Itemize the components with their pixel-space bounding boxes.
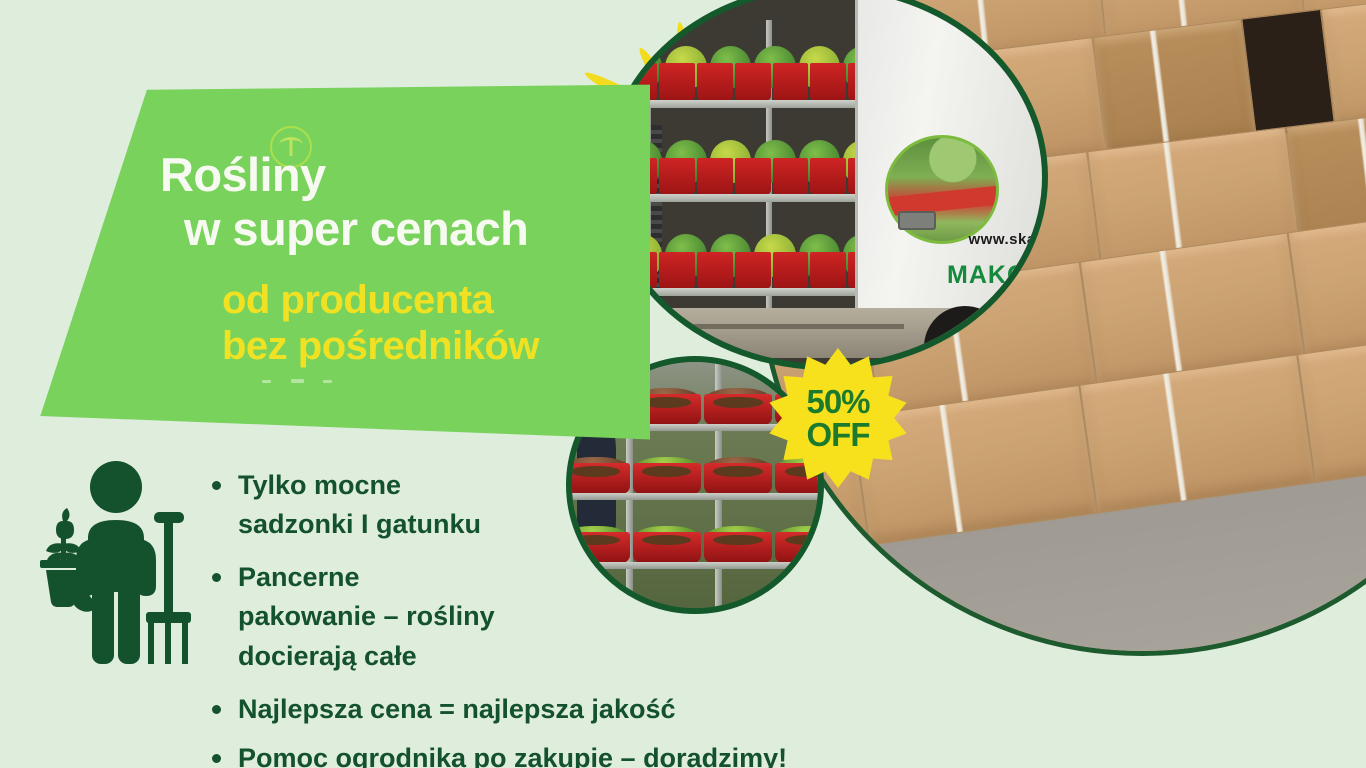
headline-line-2: w super cenach xyxy=(184,202,640,256)
headline-line-1: Rośliny xyxy=(160,148,326,201)
list-item: Tylko mocne sadzonki I gatunku xyxy=(196,466,936,544)
truck-door-handle xyxy=(898,211,936,230)
list-item: Najlepsza cena = najlepsza jakość xyxy=(196,690,936,729)
sparkle-decoration-icon xyxy=(262,372,332,390)
plant-trolley-rack xyxy=(619,20,887,334)
truck-website-text: www.skar xyxy=(969,231,1042,248)
green-trapezoid-shape xyxy=(0,0,650,470)
banner-canvas: www.skar MAKOW 50% OFF xyxy=(0,0,1366,768)
page-title: Rośliny w super cenach xyxy=(160,148,640,255)
list-item: Pomoc ogrodnika po zakupie – doradzimy! xyxy=(196,739,936,768)
truck-brand-text: MAKOW xyxy=(947,261,1048,290)
feature-list: Tylko mocne sadzonki I gatunku Pancerne … xyxy=(196,466,936,768)
delivery-truck-photo-circle: www.skar MAKOW xyxy=(604,0,1048,370)
discount-off-label: OFF xyxy=(807,418,870,451)
truck-side-panel: www.skar MAKOW xyxy=(855,0,1048,334)
plant-emblem-watermark-icon xyxy=(270,126,312,168)
discount-percent: 50% xyxy=(806,385,869,418)
list-item: Pancerne pakowanie – rośliny docierają c… xyxy=(196,558,936,675)
subheadline-line-1: od producenta xyxy=(222,278,493,322)
subheadline-line-2: bez pośredników xyxy=(222,324,539,368)
headline-panel: Rośliny w super cenach od producenta bez… xyxy=(0,0,650,470)
gardener-with-plant-and-pitchfork-icon xyxy=(28,452,198,668)
